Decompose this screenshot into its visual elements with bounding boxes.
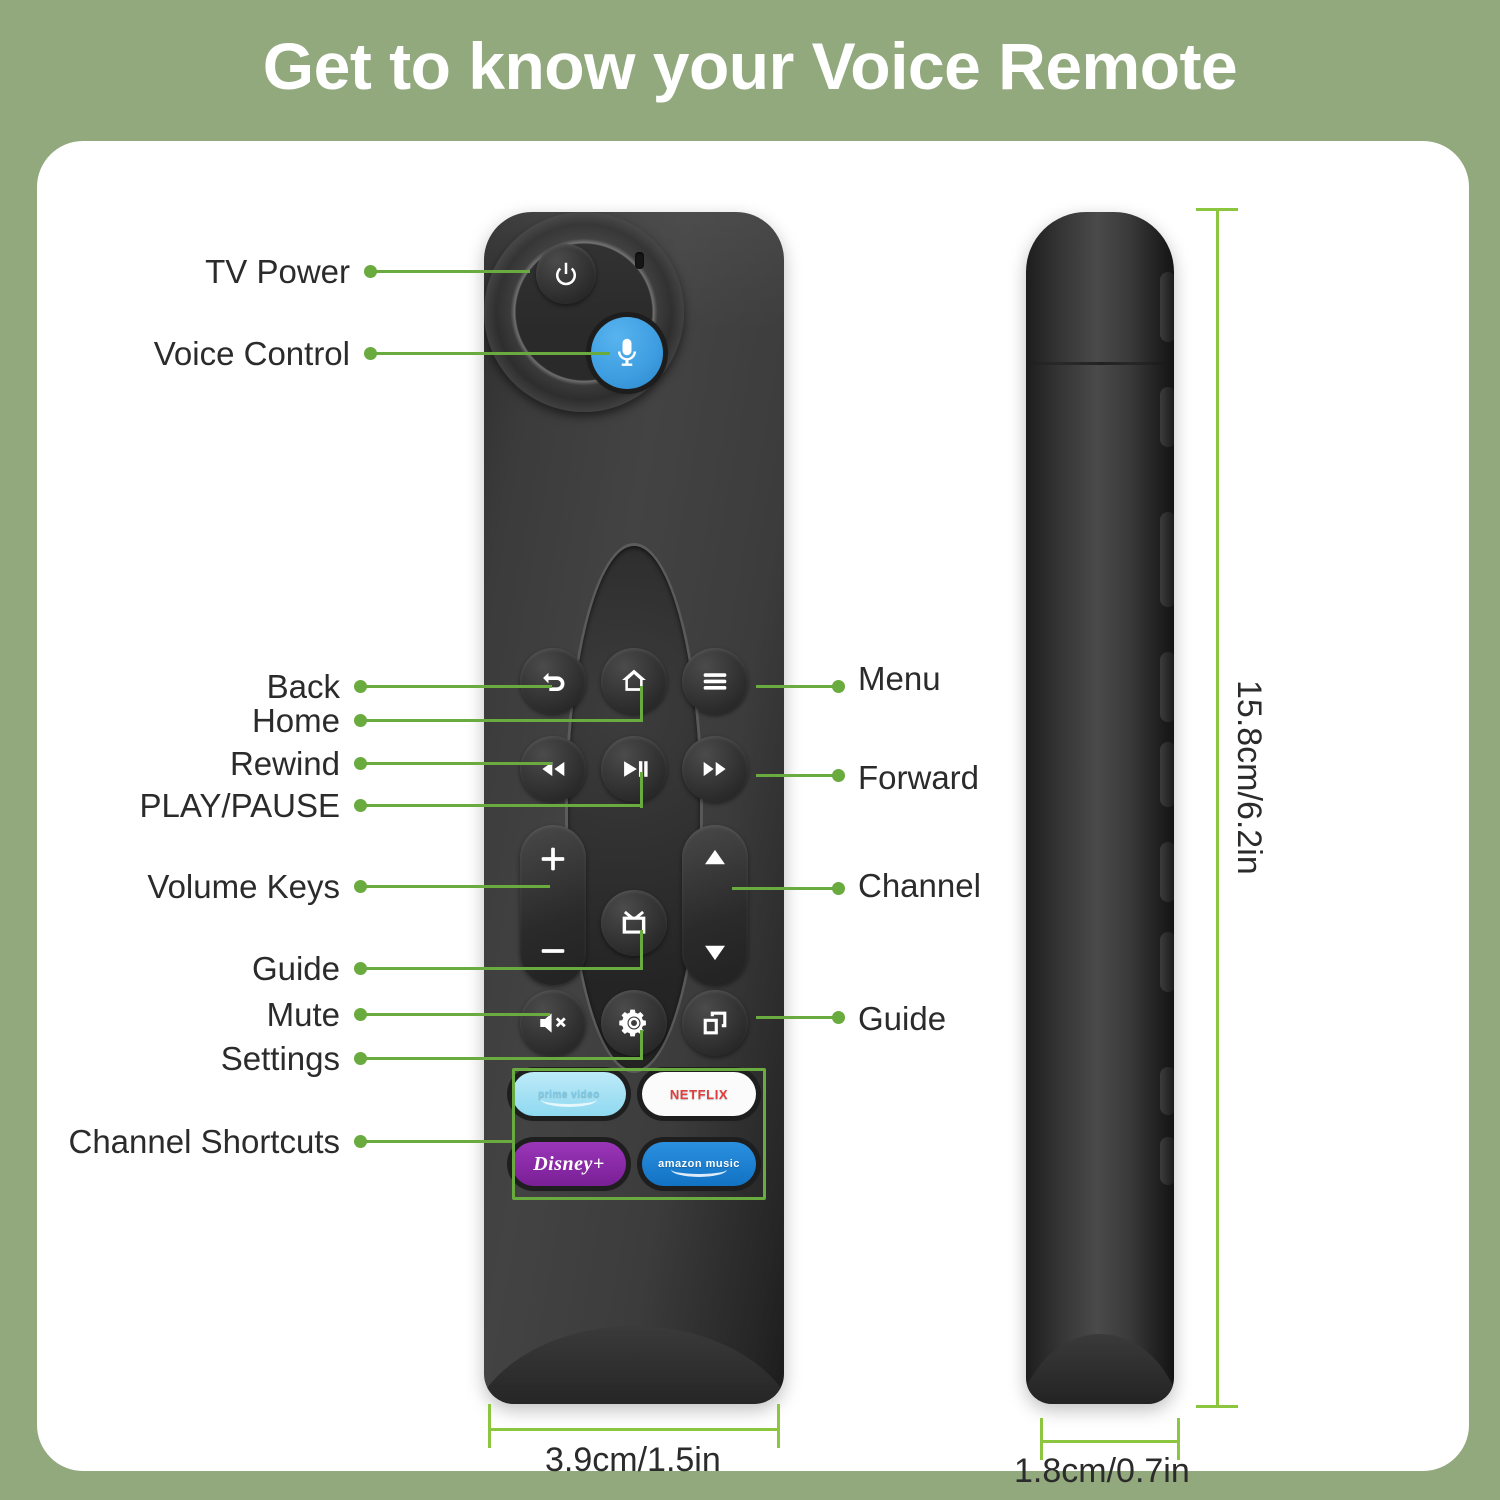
side-width-dimension-text: 1.8cm/0.7in [1014,1452,1190,1491]
rewind-icon [536,752,570,786]
side-button-bump [1160,742,1174,807]
play-pause-button[interactable] [601,736,667,802]
leader-line [360,719,643,722]
label-channel-shortcuts: Channel Shortcuts [0,1125,340,1158]
home-button[interactable] [601,648,667,714]
forward-button[interactable] [682,736,748,802]
side-button-bump [1160,512,1174,607]
height-caliper-line [1216,208,1219,1408]
power-icon [551,259,581,289]
play-pause-icon [617,752,651,786]
leader-line [640,686,643,722]
leader-line [732,887,834,890]
label-back: Back [0,670,340,703]
side-button-bump [1160,932,1174,992]
front-width-cap-right [777,1404,780,1448]
remote-seam-line [1026,362,1174,365]
side-button-bump [1160,272,1174,342]
height-caliper-cap-bottom [1196,1405,1238,1408]
leader-line [370,270,530,273]
height-caliper-cap-top [1196,208,1238,211]
gear-icon [617,1006,651,1040]
remote-bottom-curve [484,1326,784,1404]
label-tv-power: TV Power [0,255,350,288]
leader-line [756,774,834,777]
leader-line [640,772,643,808]
leader-dot [832,680,845,693]
leader-line [640,1030,643,1060]
label-volume-keys: Volume Keys [0,870,340,903]
remote-front-view: prime video NETFLIX Disney+ amazon music [484,212,784,1404]
height-dimension-text: 15.8cm/6.2in [1229,680,1268,875]
label-rewind: Rewind [0,747,340,780]
label-settings: Settings [0,1042,340,1075]
menu-button[interactable] [682,648,748,714]
leader-line [360,762,552,765]
rewind-button[interactable] [520,736,586,802]
app-switcher-button[interactable] [682,990,748,1056]
side-button-bump [1160,842,1174,902]
hamburger-menu-icon [698,664,732,698]
speaker-mute-icon [536,1006,570,1040]
page-title: Get to know your Voice Remote [0,30,1500,103]
leader-line [756,685,834,688]
power-button[interactable] [536,244,596,304]
infographic-canvas: Get to know your Voice Remote [0,0,1500,1500]
leader-line [360,804,643,807]
leader-dot [832,1011,845,1024]
tv-icon [617,906,651,940]
label-forward: Forward [858,761,979,794]
fast-forward-icon [698,752,732,786]
label-mute: Mute [0,998,340,1031]
leader-line [370,352,610,355]
leader-dot [832,769,845,782]
side-bottom-curve [1026,1334,1174,1404]
channel-down-icon [700,937,730,967]
side-button-bump [1160,652,1174,722]
label-channel: Channel [858,869,981,902]
back-arrow-icon [536,664,570,698]
front-width-caliper-line [488,1428,780,1431]
microphone-icon [609,335,645,371]
tv-guide-button[interactable] [601,890,667,956]
front-width-dimension-text: 3.9cm/1.5in [545,1441,721,1480]
mute-button[interactable] [520,990,586,1056]
label-menu: Menu [858,662,941,695]
front-width-cap-left [488,1404,491,1448]
leader-line [360,685,552,688]
volume-up-icon [537,843,569,875]
label-home: Home [0,704,340,737]
volume-rocker[interactable] [520,825,586,985]
remote-side-view [1026,212,1174,1404]
windows-overlap-icon [698,1006,732,1040]
settings-button[interactable] [601,990,667,1056]
channel-shortcuts-highlight-box [512,1068,766,1200]
channel-rocker[interactable] [682,825,748,985]
leader-line [360,1057,643,1060]
leader-line [756,1016,834,1019]
label-play-pause: PLAY/PAUSE [0,789,340,822]
label-guide-tv: Guide [0,952,340,985]
leader-line [360,1140,515,1143]
leader-line [360,967,643,970]
label-guide-apps: Guide [858,1002,946,1035]
back-button[interactable] [520,648,586,714]
leader-dot [832,882,845,895]
side-width-caliper-line [1040,1440,1180,1443]
leader-line [360,1013,550,1016]
side-button-bump [1160,1137,1174,1185]
leader-line [640,930,643,970]
channel-up-icon [700,843,730,873]
volume-down-icon [537,935,569,967]
side-button-bump [1160,1067,1174,1115]
label-voice-control: Voice Control [0,337,350,370]
home-icon [617,664,651,698]
side-button-bump [1160,387,1174,447]
microphone-hole [635,252,644,269]
leader-line [360,885,550,888]
